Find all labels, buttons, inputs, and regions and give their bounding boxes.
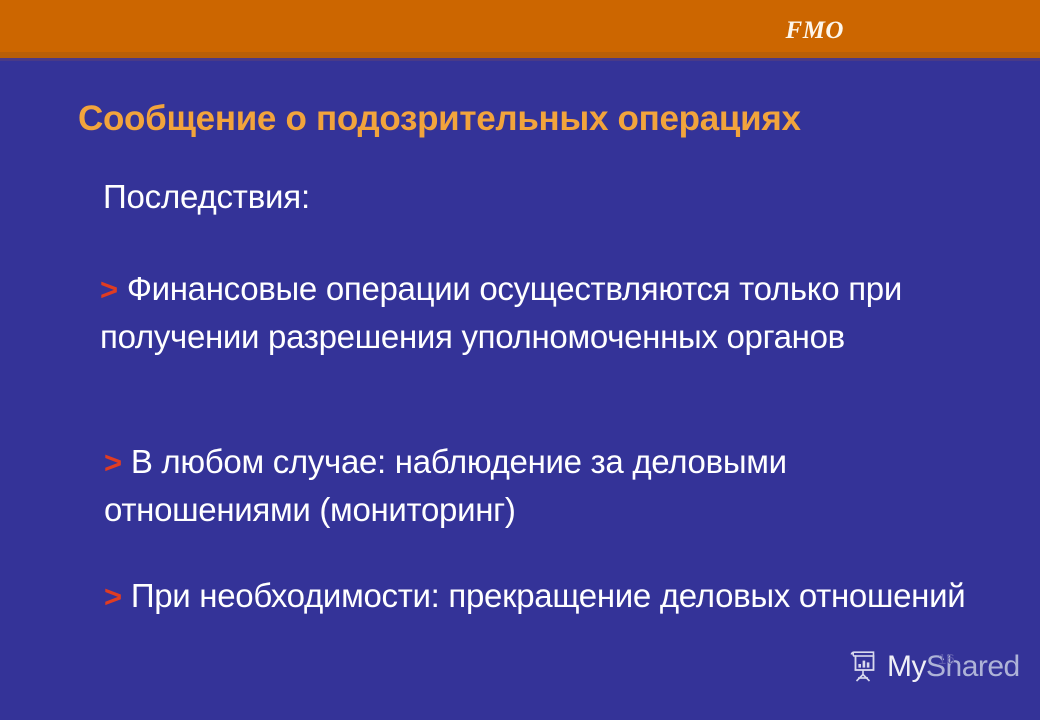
list-item: >В любом случае: наблюдение за деловыми …	[104, 438, 984, 533]
list-item-text: Финансовые операции осуществляются тольк…	[100, 270, 902, 355]
chevron-right-icon: >	[104, 445, 122, 480]
header-band	[0, 0, 1040, 52]
slide: FMO Сообщение о подозрительных операциях…	[0, 0, 1040, 720]
brand-logo-fmo: FMO	[786, 18, 844, 43]
presentation-board-icon	[846, 650, 880, 684]
myshared-watermark: MyShared	[846, 650, 1020, 684]
chevron-right-icon: >	[104, 579, 122, 614]
watermark-text-my: My	[887, 650, 926, 683]
chevron-right-icon: >	[100, 272, 118, 307]
list-item-text: При необходимости: прекращение деловых о…	[131, 577, 966, 614]
list-item: >Финансовые операции осуществляются толь…	[100, 265, 980, 360]
list-item: >При необходимости: прекращение деловых …	[104, 572, 984, 620]
page-title: Сообщение о подозрительных операциях	[78, 100, 978, 139]
body-lead-label: Последствия:	[103, 178, 310, 216]
header-underline-divider	[0, 58, 1040, 61]
list-item-text: В любом случае: наблюдение за деловыми о…	[104, 443, 787, 528]
slide-number: 16	[938, 652, 955, 667]
